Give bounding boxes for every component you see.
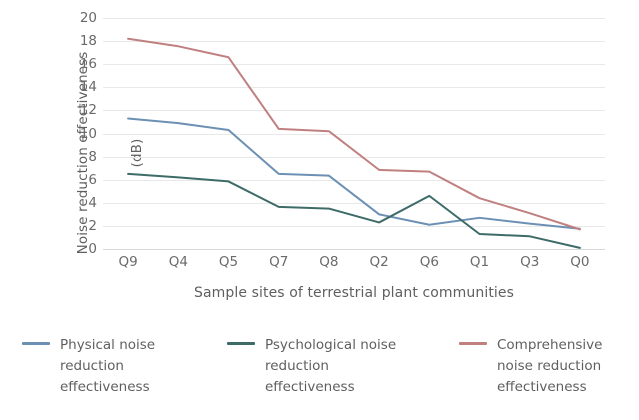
x-tick-label: Q1 bbox=[460, 254, 500, 270]
legend-label: Physical noise reduction effectiveness bbox=[60, 335, 205, 398]
y-axis-ticks: 02468101214161820 bbox=[57, 18, 97, 249]
x-tick-label: Q6 bbox=[409, 254, 449, 270]
series-line bbox=[128, 118, 580, 228]
x-axis-line bbox=[103, 249, 605, 250]
legend-line-swatch bbox=[459, 342, 487, 345]
x-tick-label: Q5 bbox=[209, 254, 249, 270]
y-tick-label: 16 bbox=[63, 56, 97, 72]
y-tick-label: 2 bbox=[63, 218, 97, 234]
y-tick-label: 4 bbox=[63, 195, 97, 211]
legend-item[interactable]: Physical noise reduction effectiveness bbox=[22, 335, 222, 398]
x-tick-label: Q8 bbox=[309, 254, 349, 270]
y-tick-label: 0 bbox=[63, 241, 97, 257]
y-tick-label: 10 bbox=[63, 126, 97, 142]
x-tick-label: Q2 bbox=[359, 254, 399, 270]
y-tick-label: 18 bbox=[63, 33, 97, 49]
x-tick-label: Q4 bbox=[158, 254, 198, 270]
y-tick-label: 14 bbox=[63, 79, 97, 95]
plot-area bbox=[103, 18, 605, 249]
legend-item[interactable]: Comprehensive noise reduction effectiven… bbox=[459, 335, 639, 398]
x-axis-title: Sample sites of terrestrial plant commun… bbox=[103, 285, 605, 301]
y-tick-label: 8 bbox=[63, 149, 97, 165]
legend-label: Psychological noise reduction effectiven… bbox=[265, 335, 410, 398]
y-tick-label: 6 bbox=[63, 172, 97, 188]
y-tick-label: 12 bbox=[63, 102, 97, 118]
y-tick-label: 20 bbox=[63, 10, 97, 26]
series-line bbox=[128, 39, 580, 230]
x-tick-label: Q9 bbox=[108, 254, 148, 270]
series-line bbox=[128, 174, 580, 248]
chart-legend: Physical noise reduction effectivenessPs… bbox=[22, 335, 622, 415]
legend-label: Comprehensive noise reduction effectiven… bbox=[497, 335, 639, 398]
legend-item[interactable]: Psychological noise reduction effectiven… bbox=[227, 335, 427, 398]
legend-line-swatch bbox=[227, 342, 255, 345]
line-chart: Noise reduction effectiveness (dB) 02468… bbox=[0, 0, 639, 420]
x-tick-label: Q0 bbox=[560, 254, 600, 270]
x-axis-ticks: Q9Q4Q5Q7Q8Q2Q6Q1Q3Q0 bbox=[103, 254, 605, 274]
x-tick-label: Q7 bbox=[259, 254, 299, 270]
legend-line-swatch bbox=[22, 342, 50, 345]
x-tick-label: Q3 bbox=[510, 254, 550, 270]
series-lines bbox=[103, 18, 605, 249]
